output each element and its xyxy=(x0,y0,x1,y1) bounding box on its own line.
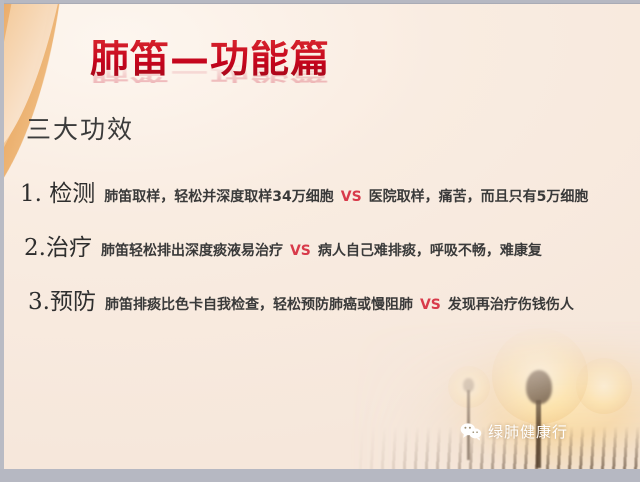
wechat-icon xyxy=(460,422,482,441)
benefit-row: 2.治疗 肺笛轻松排出深度痰液易治疗 VS 病人自己难排痰，呼吸不畅，难康复 xyxy=(24,228,640,262)
slide-frame: 肺笛—功能篇 肺笛—功能篇 三大功效 1. 检测 肺笛取样，轻松并深度取样34万… xyxy=(0,0,640,482)
dandelion-puff-small xyxy=(448,366,490,408)
left-gutter xyxy=(0,0,4,482)
dandelion-photo xyxy=(350,320,640,470)
benefit-con-text: 发现再治疗伤钱伤人 xyxy=(448,294,574,314)
presentation-slide: 肺笛—功能篇 肺笛—功能篇 三大功效 1. 检测 肺笛取样，轻松并深度取样34万… xyxy=(4,3,640,470)
wechat-account-name: 绿肺健康行 xyxy=(488,421,568,442)
benefit-pro-text: 肺笛取样，轻松并深度取样34万细胞 xyxy=(104,186,333,206)
title-block: 肺笛—功能篇 肺笛—功能篇 xyxy=(90,40,530,124)
photo-backlight xyxy=(350,320,640,470)
benefit-row: 3.预防 肺笛排痰比色卡自我检查，轻松预防肺癌或慢阻肺 VS 发现再治疗伤钱伤人 xyxy=(28,282,640,316)
ribbon-edge-stripe xyxy=(4,4,5,220)
dandelion-puff-main xyxy=(492,328,588,424)
slide-subtitle: 三大功效 xyxy=(26,110,134,146)
bottom-gutter xyxy=(0,469,640,482)
benefit-pro-text: 肺笛排痰比色卡自我检查，轻松预防肺癌或慢阻肺 xyxy=(105,294,413,314)
dandelion-seedhead-main xyxy=(526,370,552,404)
vs-separator: VS xyxy=(413,297,448,313)
wechat-watermark: 绿肺健康行 xyxy=(460,421,568,442)
benefit-con-text: 医院取样，痛苦，而且只有5万细胞 xyxy=(369,186,589,206)
benefit-row: 1. 检测 肺笛取样，轻松并深度取样34万细胞 VS 医院取样，痛苦，而且只有5… xyxy=(20,174,640,208)
page-title-reflection: 肺笛—功能篇 xyxy=(90,62,530,83)
dandelion-puff-far xyxy=(576,358,632,414)
benefit-pro-text: 肺笛轻松排出深度痰液易治疗 xyxy=(101,240,283,260)
vs-separator: VS xyxy=(283,243,318,259)
benefit-label: 2.治疗 xyxy=(24,228,92,262)
benefit-con-text: 病人自己难排痰，呼吸不畅，难康复 xyxy=(318,240,542,260)
ribbon-band-middle xyxy=(4,4,53,196)
vs-separator: VS xyxy=(334,189,369,205)
dandelion-seedhead-small xyxy=(463,378,474,392)
benefit-label: 3.预防 xyxy=(28,282,96,316)
benefit-label: 1. 检测 xyxy=(20,174,95,208)
